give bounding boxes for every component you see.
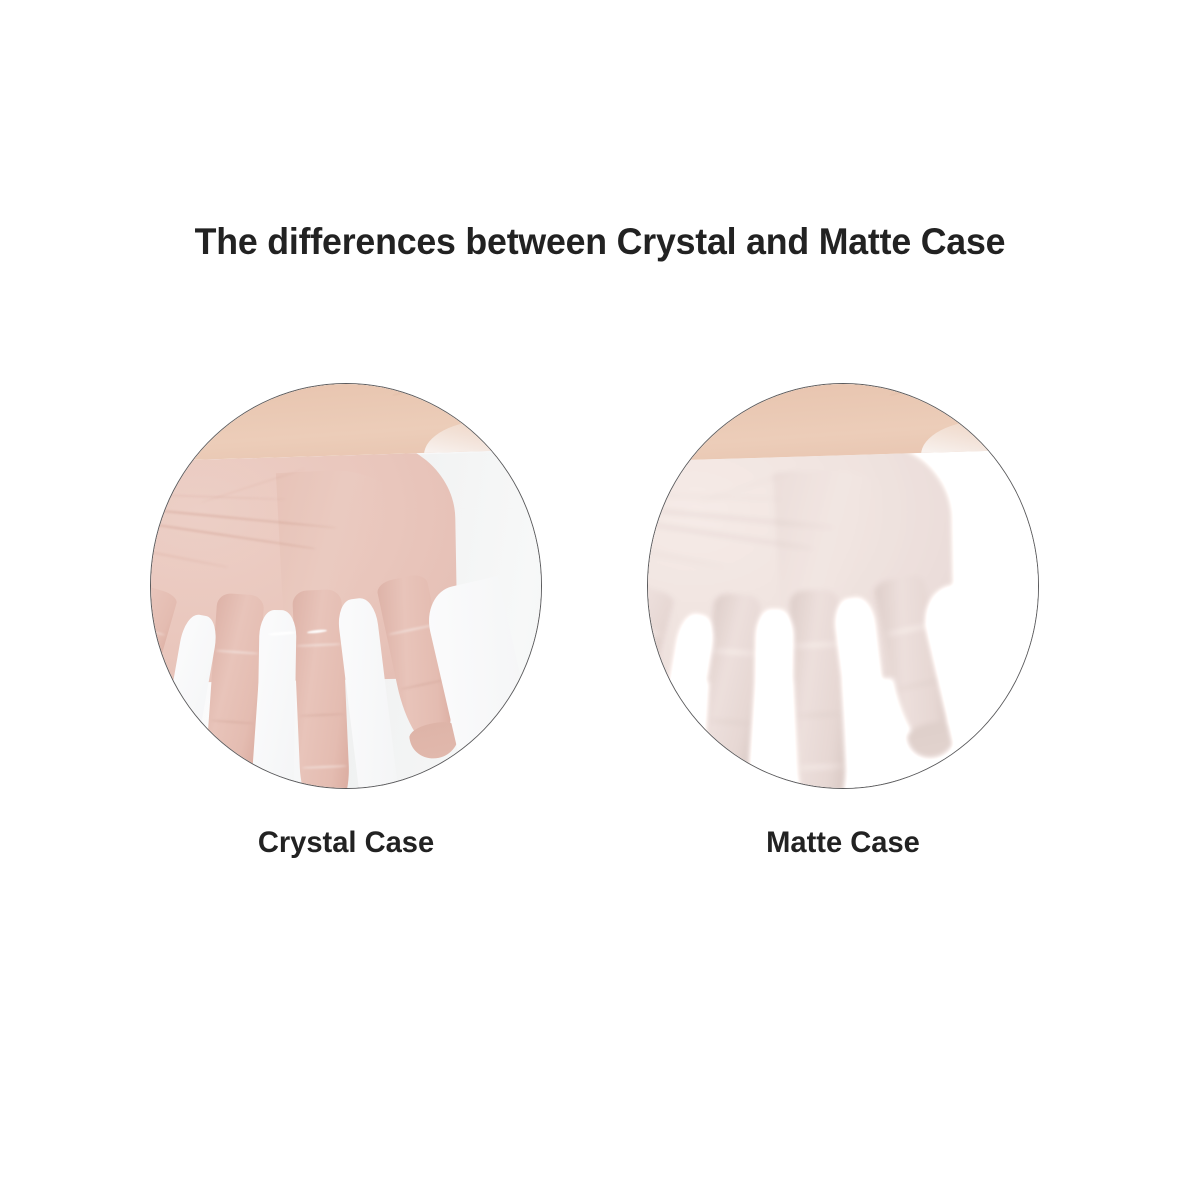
product-comparison-graphic: The differences between Crystal and Matt… [0,0,1200,1200]
photo-layers [648,384,1038,788]
finger-gap [257,610,297,789]
comparison-panels: Crystal Case [0,383,1200,903]
photo-layers [151,384,541,788]
page-title: The differences between Crystal and Matt… [21,222,1179,263]
caption-matte-case: Matte Case [653,826,1033,860]
comparison-item-crystal: Crystal Case [150,383,542,789]
matte-case-photo [647,383,1039,789]
crystal-case-photo [150,383,542,789]
finger-gap [754,610,794,789]
comparison-item-matte: Matte Case [647,383,1039,789]
caption-crystal-case: Crystal Case [156,826,536,860]
